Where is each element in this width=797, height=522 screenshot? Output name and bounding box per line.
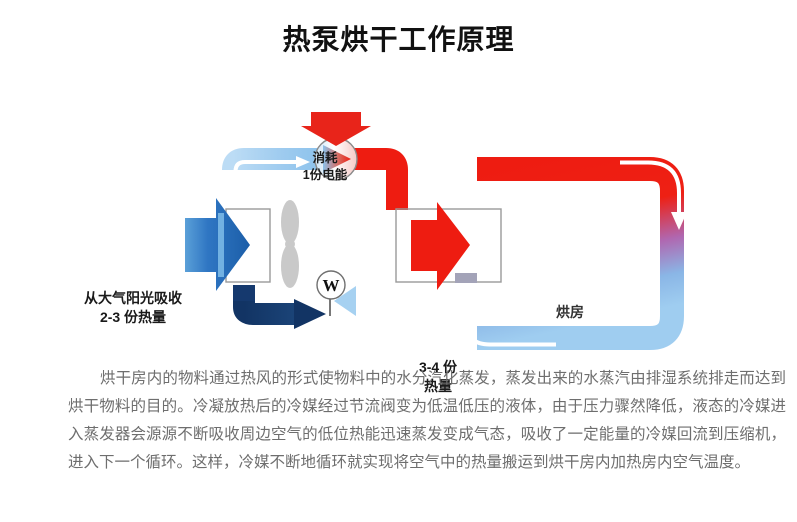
evaporator-fin-highlight [218, 213, 224, 277]
label-absorb-line2: 2-3 份热量 [58, 308, 208, 327]
condenser [396, 202, 501, 290]
expansion-valve-label: W [323, 276, 340, 295]
label-ambient-absorption: 从大气阳光吸收 2-3 份热量 [58, 289, 208, 327]
label-drying-room: 烘房 [500, 303, 640, 322]
pipe-bottom-navy [244, 301, 296, 314]
page-title: 热泵烘干工作原理 [0, 18, 797, 58]
expansion-valve-icon: W [317, 271, 345, 299]
heat-pump-diagram: W 消耗 1份电能 从大气阳光吸收 2-3 份热量 [0, 70, 797, 360]
room-flow-arrow-up [458, 284, 474, 302]
description-paragraph: 烘干房内的物料通过热风的形式使物料中的水分汽化蒸发，蒸发出来的水蒸汽由排湿系统排… [68, 365, 786, 477]
label-electricity-line1: 消耗 [265, 150, 385, 167]
label-electricity-line2: 1份电能 [265, 167, 385, 184]
room-return-connector [455, 273, 477, 283]
bottom-navy-arrowhead [294, 299, 326, 329]
label-absorb-line1: 从大气阳光吸收 [58, 289, 208, 308]
label-electricity-consumption: 消耗 1份电能 [265, 150, 385, 184]
evaporator [185, 198, 270, 291]
electricity-input-arrow [301, 112, 371, 146]
fan-icon [281, 200, 299, 288]
